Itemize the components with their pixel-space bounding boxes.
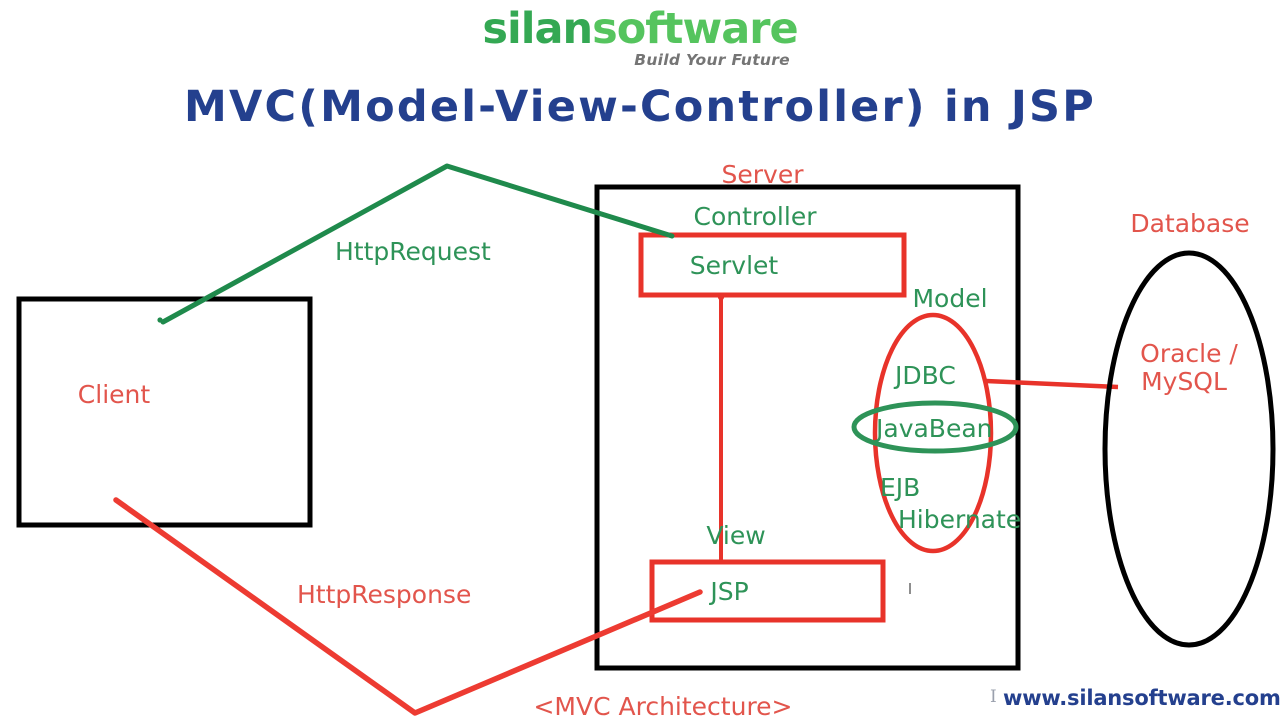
diagram-vector-layer (0, 0, 1280, 720)
model-to-database-connector (986, 381, 1118, 387)
slide-canvas: silansoftware Build Your Future MVC(Mode… (0, 0, 1280, 720)
server-label: Server (597, 161, 928, 189)
database-label: Database (1099, 210, 1280, 238)
servlet-connector-dot (718, 294, 724, 300)
jsp-label: JSP (652, 578, 807, 606)
view-label: View (652, 522, 820, 550)
model-item-javabean: JavaBean (876, 415, 993, 443)
http-request-label: HttpRequest (335, 238, 491, 266)
client-box (19, 299, 310, 525)
http-request-origin-dot (157, 317, 162, 322)
servlet-label: Servlet (641, 252, 827, 280)
diagram-caption: <MVC Architecture> (478, 693, 848, 720)
model-item-jdbc: JDBC (895, 362, 956, 390)
database-engine-line2: MySQL (1105, 368, 1263, 396)
database-ellipse (1105, 253, 1273, 645)
client-label: Client (19, 381, 209, 409)
http-response-label: HttpResponse (297, 581, 471, 609)
model-label: Model (855, 285, 1045, 313)
database-engine-line1: Oracle / (1105, 340, 1273, 368)
model-item-ejb: EJB (880, 474, 920, 502)
text-cursor-artifact: I (990, 687, 997, 707)
model-item-hibernate: Hibernate (898, 506, 1021, 534)
controller-label: Controller (597, 203, 913, 231)
website-url[interactable]: www.silansoftware.com (1003, 686, 1280, 710)
